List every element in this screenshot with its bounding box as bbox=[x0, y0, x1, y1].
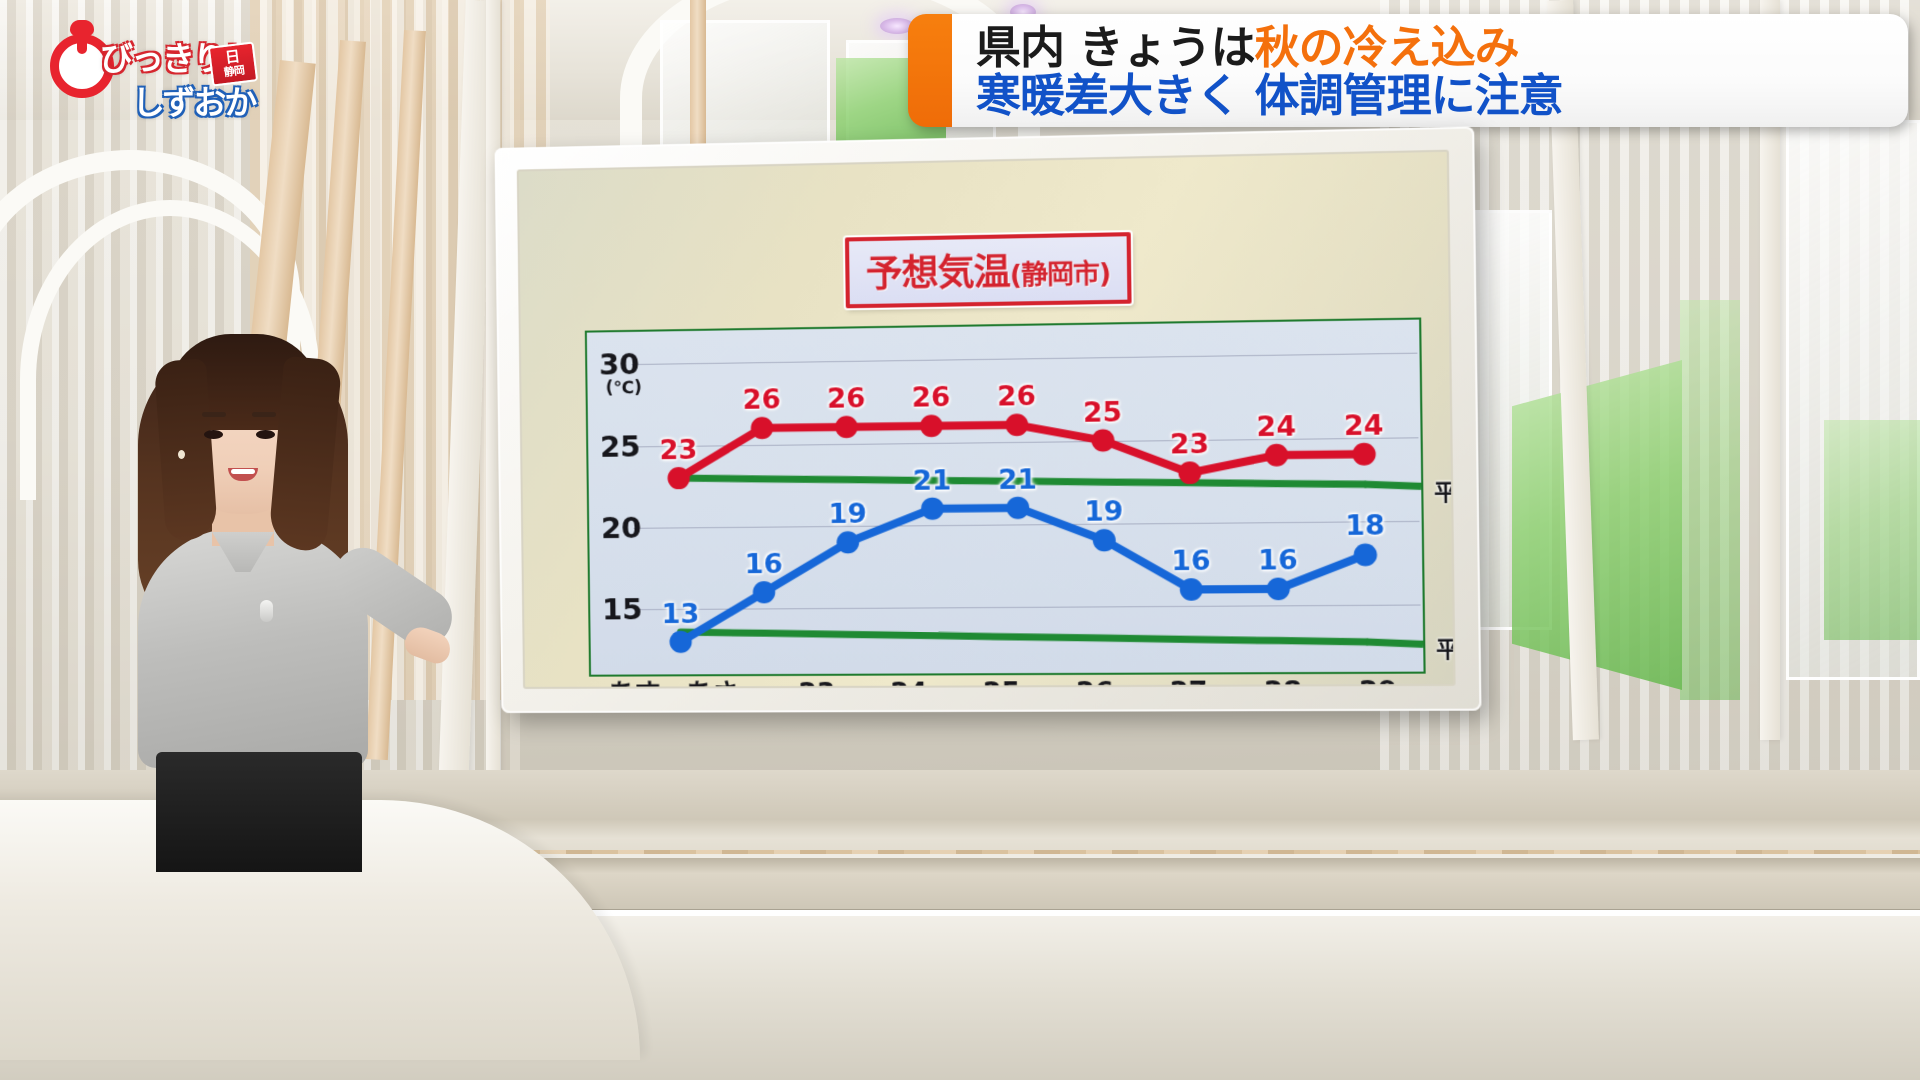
chart-normal-line-extension bbox=[1366, 642, 1423, 645]
chart-max-temp-label: 23 bbox=[659, 435, 697, 467]
program-logo: びっきり！ しずおか 日 静岡 bbox=[44, 18, 284, 130]
chart-data-point bbox=[1180, 578, 1203, 601]
presenter-eye bbox=[256, 430, 275, 439]
chart-max-temp-label: 23 bbox=[1170, 429, 1210, 461]
chart-x-date: 24 bbox=[863, 680, 956, 688]
chart-data-point bbox=[1354, 543, 1378, 566]
chart-min-temp-label: 16 bbox=[1171, 545, 1211, 577]
weather-presenter bbox=[60, 300, 490, 860]
headline-banner: 県内 きょうは秋の冷え込み 寒暖差大きく 体調管理に注意 bbox=[908, 14, 1908, 127]
presenter-skirt bbox=[156, 752, 362, 872]
presenter-eyebrow bbox=[252, 412, 276, 417]
chart-x-date: あさって bbox=[680, 681, 772, 689]
chart-series-layer bbox=[587, 320, 1428, 679]
monitor-screen: 予想気温(静岡市) 30252015(℃)2326262626252324241… bbox=[517, 150, 1456, 689]
chart-title-location: (静岡市) bbox=[1010, 259, 1111, 291]
headline-accent-tab bbox=[908, 14, 952, 127]
chart-x-axis-tick: あす（月） bbox=[589, 681, 680, 689]
chart-normal-value-label: 平年値 bbox=[1434, 473, 1456, 507]
chart-x-axis-tick: 27（日） bbox=[1141, 679, 1236, 688]
chart-title: 予想気温(静岡市) bbox=[845, 232, 1131, 308]
chart-normal-line-extension bbox=[1364, 484, 1421, 487]
chart-data-point bbox=[1005, 414, 1028, 437]
chart-min-temp-label: 21 bbox=[998, 464, 1037, 496]
monitor-bezel: 予想気温(静岡市) 30252015(℃)2326262626252324241… bbox=[495, 126, 1482, 713]
chart-x-axis-tick: 29（火） bbox=[1330, 679, 1426, 689]
decor-green-panel bbox=[1512, 360, 1682, 690]
presenter-eye bbox=[204, 430, 223, 439]
chart-min-temp-label: 13 bbox=[661, 598, 699, 629]
chart-x-axis-tick: 26（土） bbox=[1048, 680, 1142, 689]
chart-normal-line bbox=[681, 629, 1367, 646]
chart-x-date: 23 bbox=[771, 681, 863, 689]
chart-data-point bbox=[1006, 496, 1029, 519]
chart-x-axis-tick: あさって（火） bbox=[680, 681, 772, 689]
chart-max-temp-label: 24 bbox=[1256, 411, 1296, 443]
chart-title-main: 予想気温 bbox=[866, 252, 1010, 296]
chart-x-date: あす bbox=[589, 681, 680, 689]
chart-max-temp-label: 26 bbox=[742, 384, 781, 416]
chart-x-axis-tick: 28（月） bbox=[1236, 679, 1331, 689]
headline-line-1: 県内 きょうは秋の冷え込み bbox=[976, 24, 1888, 72]
chart-plot-area: 30252015(℃)23262626262523242413161921211… bbox=[585, 318, 1426, 677]
studio-monitor: 予想気温(静岡市) 30252015(℃)2326262626252324241… bbox=[495, 126, 1482, 713]
chart-data-point bbox=[1265, 444, 1288, 467]
chart-min-temp-label: 19 bbox=[828, 499, 867, 531]
chart-data-point bbox=[1352, 443, 1376, 466]
headline-text-box: 県内 きょうは秋の冷え込み 寒暖差大きく 体調管理に注意 bbox=[952, 14, 1908, 127]
chart-x-date: 25 bbox=[955, 680, 1048, 689]
chart-data-point bbox=[1093, 529, 1116, 552]
chart-x-date: 28 bbox=[1236, 679, 1331, 689]
chart-x-date: 27 bbox=[1141, 679, 1235, 688]
headline-line1-orange: 秋の冷え込み bbox=[1255, 21, 1519, 74]
chart-x-date: 26 bbox=[1048, 680, 1142, 689]
logo-dot-icon bbox=[70, 20, 94, 36]
logo-station-badge: 日 静岡 bbox=[208, 41, 259, 86]
presenter-eyebrow bbox=[202, 412, 226, 417]
chart-min-temp-label: 21 bbox=[913, 465, 952, 497]
chart-max-temp-label: 26 bbox=[997, 381, 1036, 413]
chart-x-axis-labels: あす（月）あさって（火）23（水）24（木）25（金）26（土）27（日）28（… bbox=[589, 679, 1426, 689]
chart-min-temp-label: 19 bbox=[1084, 496, 1123, 528]
chart-data-point bbox=[920, 415, 943, 438]
lapel-microphone-icon bbox=[260, 600, 273, 622]
chart-x-axis-tick: 25（金） bbox=[955, 680, 1049, 689]
headline-line1-black: 県内 きょうは bbox=[976, 21, 1255, 74]
chart-data-point bbox=[1267, 577, 1290, 600]
chart-max-temp-label: 26 bbox=[827, 383, 866, 415]
logo-badge-line2: 静岡 bbox=[223, 65, 244, 79]
decor-green-panel bbox=[1680, 300, 1740, 700]
chart-normal-value-label: 平年値 bbox=[1436, 631, 1456, 664]
chart-data-point bbox=[835, 416, 858, 439]
chart-data-point bbox=[1091, 429, 1114, 452]
chart-min-temp-label: 18 bbox=[1345, 510, 1385, 542]
chart-min-temp-label: 16 bbox=[744, 549, 783, 581]
chart-data-point bbox=[921, 497, 944, 520]
chart-min-temp-label: 16 bbox=[1258, 545, 1298, 577]
chart-x-axis-tick: 23（水） bbox=[771, 681, 863, 689]
chart-max-temp-label: 26 bbox=[912, 382, 951, 414]
chart-max-temp-label: 25 bbox=[1083, 396, 1122, 428]
decor-green-panel bbox=[1824, 420, 1920, 640]
presenter-earring bbox=[178, 450, 185, 459]
chart-x-axis-tick: 24（木） bbox=[863, 680, 956, 688]
chart-x-date: 29 bbox=[1330, 679, 1426, 689]
chart-max-temp-label: 24 bbox=[1344, 410, 1384, 442]
headline-line-2: 寒暖差大きく 体調管理に注意 bbox=[976, 72, 1888, 120]
